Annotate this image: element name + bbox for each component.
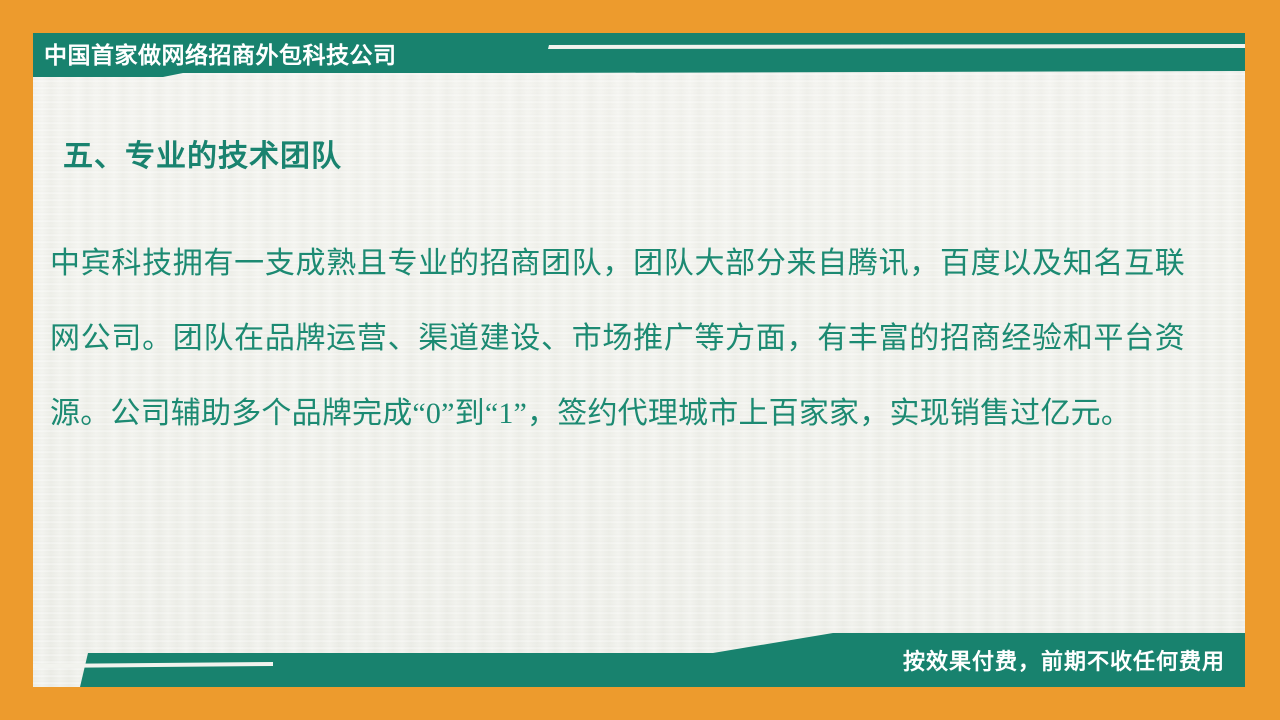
slide-canvas: 中国首家做网络招商外包科技公司 五、专业的技术团队 中宾科技拥有一支成熟且专业的… bbox=[0, 0, 1280, 720]
section-title: 五、专业的技术团队 bbox=[63, 131, 342, 175]
footer-tagline: 按效果付费，前期不收任何费用 bbox=[903, 645, 1225, 679]
body-paragraph: 中宾科技拥有一支成熟且专业的招商团队，团队大部分来自腾讯，百度以及知名互联网公司… bbox=[50, 226, 1185, 451]
header-title: 中国首家做网络招商外包科技公司 bbox=[44, 36, 397, 74]
